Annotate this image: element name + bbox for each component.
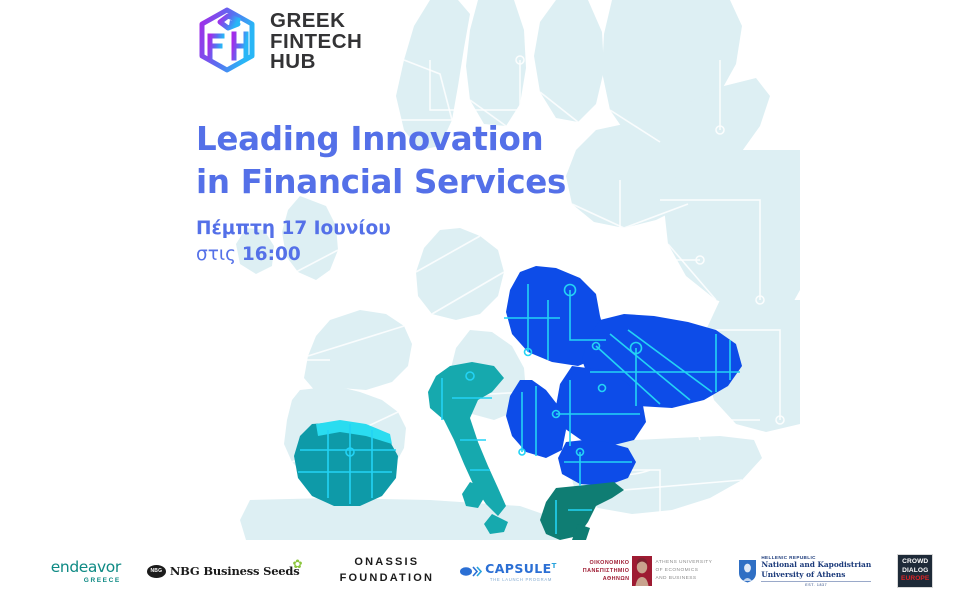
- aueb-greek-name: ΟΙΚΟΝΟΜΙΚΟ ΠΑΝΕΠΙΣΤΗΜΙΟ ΑΘΗΝΩΝ: [583, 559, 630, 583]
- event-time-prefix: στις: [196, 244, 236, 265]
- capsule-sub: THE LAUNCH PROGRAM: [490, 577, 552, 582]
- event-time-row: στις 16:00: [196, 242, 391, 268]
- headline-line-1: Leading Innovation: [196, 118, 656, 161]
- sponsor-crowd-dialog-europe[interactable]: CROWD DIALOG EUROPE: [897, 554, 933, 588]
- nbg-mark-icon: NBG: [147, 565, 166, 578]
- aueb-greek-1: ΟΙΚΟΝΟΜΙΚΟ: [590, 559, 630, 567]
- onassis-line-1: ONASSIS: [354, 555, 419, 571]
- event-poster: GREEK FINTECH HUB Leading Innovation in …: [0, 0, 960, 600]
- event-date: Πέμπτη 17 Ιουνίου: [196, 216, 391, 242]
- logo-wordmark: GREEK FINTECH HUB: [270, 11, 362, 73]
- sponsor-nbg-business-seeds[interactable]: NBG NBG Business Seeds ✿: [147, 551, 314, 591]
- aueb-en-1: ATHENS UNIVERSITY: [655, 559, 712, 567]
- page-title: Leading Innovation in Financial Services: [196, 118, 656, 204]
- nkua-seal-icon: [738, 559, 757, 583]
- leaf-icon: ✿: [293, 557, 303, 571]
- sponsor-onassis-foundation[interactable]: ONASSIS FOUNDATION: [340, 551, 435, 591]
- gfh-cube-logo-icon: [196, 6, 258, 78]
- capsule-name: CAPSULET: [485, 561, 557, 576]
- capsule-superscript: T: [552, 561, 557, 569]
- event-datetime: Πέμπτη 17 Ιουνίου στις 16:00: [196, 216, 391, 269]
- endeavor-sub: GREECE: [84, 577, 121, 584]
- onassis-line-2: FOUNDATION: [340, 571, 435, 587]
- sponsor-endeavor-greece[interactable]: endeavor GREECE: [51, 551, 121, 591]
- nkua-name-2: University of Athens: [761, 570, 871, 580]
- sponsor-capsule-t[interactable]: CAPSULET THE LAUNCH PROGRAM: [460, 551, 557, 591]
- nkua-wordmark: HELLENIC REPUBLIC National and Kapodistr…: [761, 555, 871, 586]
- nbg-name: NBG Business Seeds: [170, 564, 300, 578]
- chevron-dots-icon: [460, 566, 482, 577]
- greek-fintech-hub-logo: GREEK FINTECH HUB: [196, 6, 362, 78]
- aueb-greek-2: ΠΑΝΕΠΙΣΤΗΜΙΟ: [583, 567, 630, 575]
- sponsor-athens-university-economics-business[interactable]: ΟΙΚΟΝΟΜΙΚΟ ΠΑΝΕΠΙΣΤΗΜΙΟ ΑΘΗΝΩΝ ATHENS UN…: [583, 551, 713, 591]
- crowd-line-1: CROWD: [902, 558, 928, 566]
- nkua-name-1: National and Kapodistrian: [761, 560, 871, 570]
- crowd-line-3: EUROPE: [901, 575, 929, 583]
- aueb-greek-3: ΑΘΗΝΩΝ: [603, 575, 630, 583]
- logo-word-2: FINTECH: [270, 32, 362, 53]
- headline-line-2: in Financial Services: [196, 161, 656, 204]
- sponsor-logos-strip: endeavor GREECE NBG NBG Business Seeds ✿…: [0, 542, 960, 600]
- event-time: 16:00: [242, 244, 301, 265]
- logo-word-3: HUB: [270, 52, 362, 73]
- endeavor-name: endeavor: [51, 558, 121, 576]
- europe-map-artwork: [0, 0, 800, 540]
- aueb-en-2: OF ECONOMICS: [655, 567, 698, 575]
- aueb-en-3: AND BUSINESS: [655, 575, 696, 583]
- aueb-english-name: ATHENS UNIVERSITY OF ECONOMICS AND BUSIN…: [655, 559, 712, 582]
- logo-word-1: GREEK: [270, 11, 362, 32]
- crowd-line-2: DIALOG: [902, 567, 928, 575]
- nkua-established: EST. 1837: [761, 581, 871, 587]
- nbg-mark-text: NBG: [151, 568, 163, 574]
- sponsor-national-kapodistrian-university-athens[interactable]: HELLENIC REPUBLIC National and Kapodistr…: [738, 551, 871, 591]
- aueb-crest-icon: [632, 556, 652, 586]
- capsule-wordmark: CAPSULET THE LAUNCH PROGRAM: [485, 561, 557, 582]
